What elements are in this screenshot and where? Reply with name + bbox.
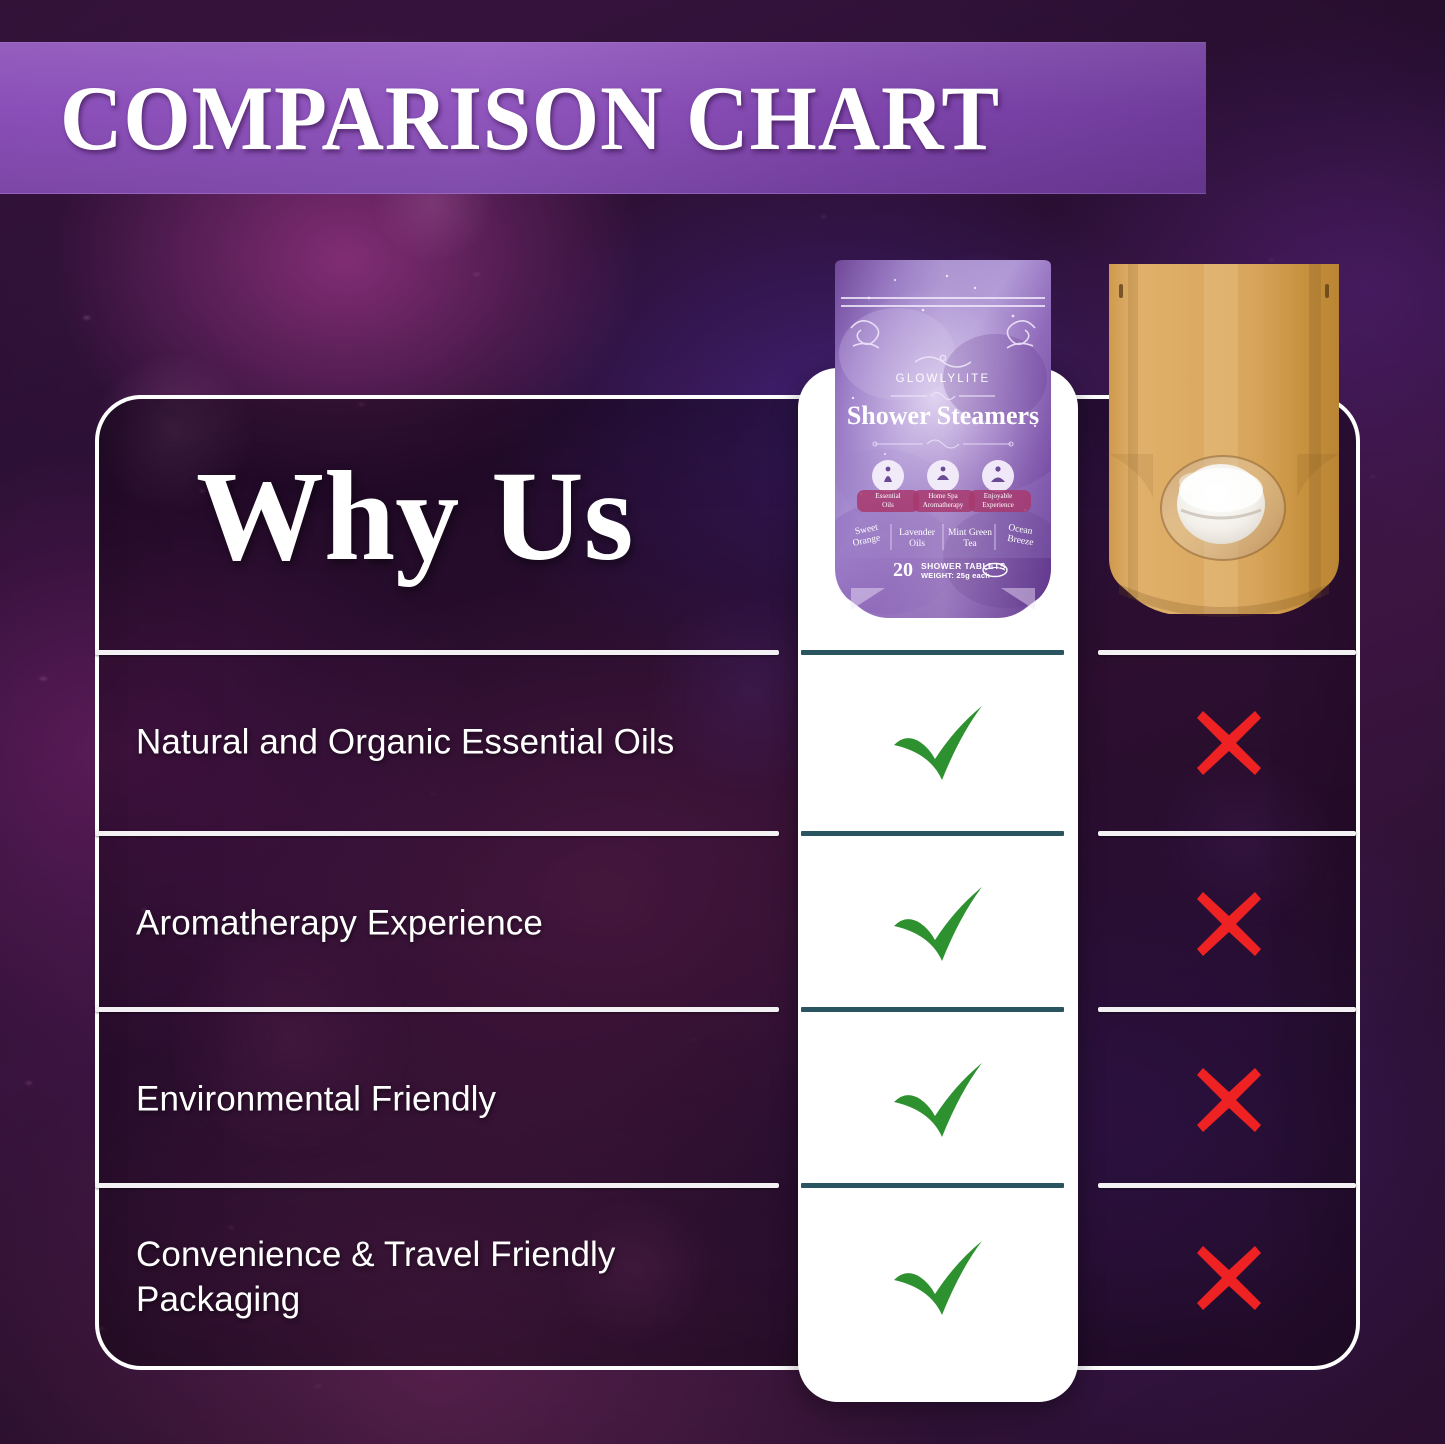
svg-text:Aromatherapy: Aromatherapy [923,501,964,509]
competitor-product-image [1103,258,1345,625]
why-us-title: Why Us [196,452,633,580]
page-title: COMPARISON CHART [60,72,1000,164]
competitor-cross-cell [1103,1239,1355,1317]
competitor-cross-cell [1103,704,1355,782]
table-row: Natural and Organic Essential Oils [95,655,1360,831]
our-check-cell [798,1236,1078,1320]
check-icon [886,1058,990,1142]
header-banner: COMPARISON CHART [0,42,1206,194]
svg-text:Lavender: Lavender [899,528,936,538]
feature-label: Natural and Organic Essential Oils [136,721,756,766]
product-count-text: 20 [893,559,913,581]
check-icon [886,701,990,785]
svg-text:Oils: Oils [909,539,925,549]
svg-text:Home Spa: Home Spa [928,492,958,500]
check-icon [886,1236,990,1320]
check-icon [886,882,990,966]
table-row: Aromatherapy Experience [95,836,1360,1012]
cross-icon [1190,1239,1268,1317]
svg-text:Enjoyable: Enjoyable [984,492,1012,500]
product-brand-text: GLOWLYLITE [896,373,991,385]
feature-label: Convenience & Travel Friendly Packaging [136,1233,696,1323]
cross-icon [1190,704,1268,782]
our-check-cell [798,882,1078,966]
our-check-cell [798,1058,1078,1142]
competitor-cross-cell [1103,1061,1355,1139]
competitor-cross-cell [1103,885,1355,963]
svg-text:Oils: Oils [882,501,894,509]
product-badge-group: Essential Oils Home Spa Aromatherapy Enj… [857,460,1031,512]
table-row: Convenience & Travel Friendly Packaging [95,1188,1360,1368]
comparison-chart-page: COMPARISON CHART [0,0,1445,1444]
table-row: Environmental Friendly [95,1012,1360,1188]
feature-label: Environmental Friendly [136,1078,756,1123]
product-weight-label: WEIGHT: 25g each [921,571,990,580]
product-name-text: Shower Steamers [847,401,1039,430]
svg-text:Mint Green: Mint Green [948,528,992,538]
cross-icon [1190,1061,1268,1139]
svg-text:Experience: Experience [982,501,1013,509]
our-product-image: GLOWLYLITE Shower Steamers [827,258,1059,625]
our-check-cell [798,701,1078,785]
svg-text:Essential: Essential [875,492,900,500]
product-count-label: SHOWER TABLETS [921,561,1006,571]
svg-text:Tea: Tea [963,539,977,549]
cross-icon [1190,885,1268,963]
feature-label: Aromatherapy Experience [136,902,756,947]
